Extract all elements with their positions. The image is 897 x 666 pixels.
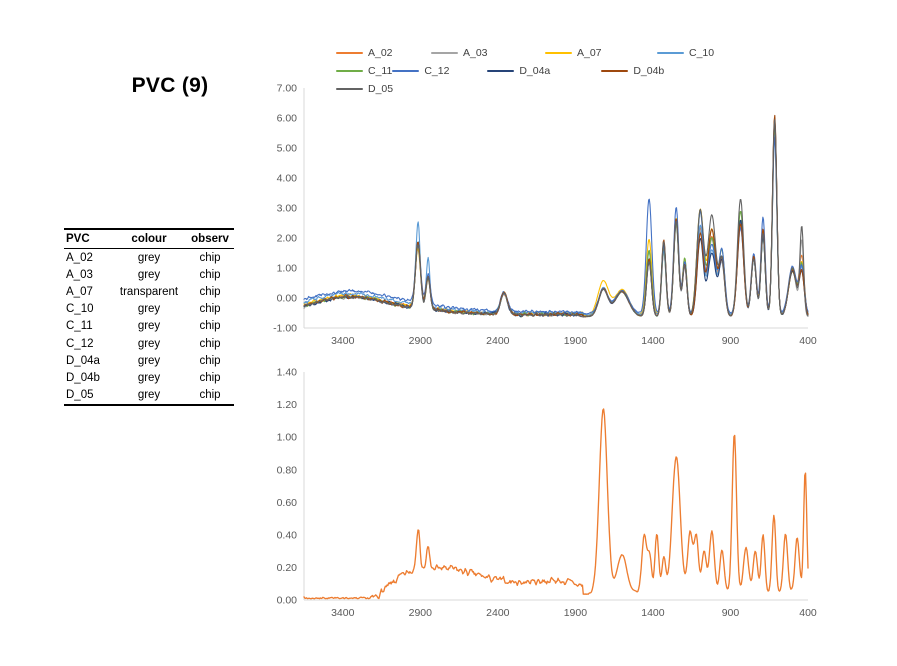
y-axis-tick-label: 4.00 (277, 173, 298, 185)
table-row: C_12greychip (64, 335, 234, 352)
x-axis-tick-label: 900 (722, 335, 740, 347)
series-line-d_04a (304, 121, 808, 317)
legend-item-a_03[interactable]: A_03 (431, 44, 545, 62)
table-row: D_04bgreychip (64, 369, 234, 386)
sample-colour-cell: grey (112, 387, 186, 405)
table-row: D_04agreychip (64, 352, 234, 369)
legend-swatch-icon (392, 70, 419, 73)
x-axis-tick-label: 2900 (409, 607, 433, 619)
sample-observ-cell: chip (186, 387, 234, 405)
sample-colour-cell: grey (112, 301, 186, 318)
y-axis-tick-label: 1.20 (277, 399, 298, 411)
y-axis-tick-label: 0.20 (277, 562, 298, 574)
legend-label: A_02 (368, 47, 393, 59)
sample-observ-cell: chip (186, 301, 234, 318)
sample-id-cell: C_10 (64, 301, 112, 318)
sample-observ-cell: chip (186, 352, 234, 369)
legend-swatch-icon (336, 52, 363, 55)
sample-colour-cell: grey (112, 318, 186, 335)
x-axis-tick-label: 1900 (564, 607, 588, 619)
table-row: C_10greychip (64, 301, 234, 318)
series-line-c_11 (304, 125, 808, 317)
series-line-d_04b (304, 115, 808, 316)
sample-id-cell: D_04b (64, 369, 112, 386)
table-row: A_07transparentchip (64, 283, 234, 300)
legend-swatch-icon (487, 70, 514, 73)
legend-item-a_07[interactable]: A_07 (545, 44, 657, 62)
x-axis-tick-label: 1400 (641, 335, 665, 347)
sample-colour-cell: transparent (112, 283, 186, 300)
x-axis-tick-label: 2900 (409, 335, 433, 347)
table-row: C_11greychip (64, 318, 234, 335)
sample-colour-cell: grey (112, 249, 186, 267)
table-row: A_02greychip (64, 249, 234, 267)
legend-swatch-icon (545, 52, 572, 55)
page-title: PVC (9) (70, 74, 270, 98)
sample-colour-cell: grey (112, 266, 186, 283)
x-axis-tick-label: 2400 (486, 335, 510, 347)
y-axis-tick-label: 6.00 (277, 113, 298, 125)
x-axis-tick-label: 400 (799, 607, 817, 619)
series-line-c_12 (304, 138, 808, 314)
sample-observ-cell: chip (186, 335, 234, 352)
y-axis-tick-label: 0.60 (277, 497, 298, 509)
sample-colour-cell: grey (112, 369, 186, 386)
legend-label: C_12 (424, 65, 449, 77)
sample-id-cell: C_11 (64, 318, 112, 335)
legend-item-a_02[interactable]: A_02 (336, 44, 431, 62)
legend-item-c_11[interactable]: C_11 (336, 62, 392, 80)
sample-observ-cell: chip (186, 249, 234, 267)
sample-observ-cell: chip (186, 369, 234, 386)
spectra-overlay-chart-svg: -1.000.001.002.003.004.005.006.007.00340… (258, 84, 814, 356)
sample-id-cell: C_12 (64, 335, 112, 352)
spectra-overlay-chart: -1.000.001.002.003.004.005.006.007.00340… (258, 84, 814, 356)
column-header-observ: observ (186, 229, 234, 249)
sample-id-cell: D_04a (64, 352, 112, 369)
legend-label: C_10 (689, 47, 714, 59)
legend-item-d_04a[interactable]: D_04a (487, 62, 601, 80)
y-axis-tick-label: 0.80 (277, 464, 298, 476)
legend-swatch-icon (336, 70, 363, 73)
legend-item-c_10[interactable]: C_10 (657, 44, 767, 62)
series-line-d_05 (304, 120, 808, 317)
series-line-a_03 (304, 127, 808, 317)
sample-colour-cell: grey (112, 352, 186, 369)
sample-table-container: PVC colour observ A_02greychipA_03greych… (64, 228, 234, 406)
x-axis-tick-label: 3400 (331, 335, 355, 347)
series-line-a_02 (304, 409, 808, 599)
legend-item-c_12[interactable]: C_12 (392, 62, 487, 80)
table-row: A_03greychip (64, 266, 234, 283)
table-header-row: PVC colour observ (64, 229, 234, 249)
sample-colour-cell: grey (112, 335, 186, 352)
reference-spectrum-chart-svg: 0.000.200.400.600.801.001.201.4034002900… (250, 368, 814, 630)
legend-label: A_03 (463, 47, 488, 59)
legend-swatch-icon (601, 70, 628, 73)
sample-id-cell: A_03 (64, 266, 112, 283)
legend-label: C_11 (368, 65, 392, 77)
legend-label: D_04a (519, 65, 550, 77)
legend-swatch-icon (431, 52, 458, 55)
x-axis-tick-label: 2400 (486, 607, 510, 619)
sample-id-cell: D_05 (64, 387, 112, 405)
sample-observ-cell: chip (186, 266, 234, 283)
y-axis-tick-label: 0.40 (277, 529, 298, 541)
y-axis-tick-label: 1.00 (277, 432, 298, 444)
legend-item-d_04b[interactable]: D_04b (601, 62, 713, 80)
series-line-a_02 (304, 119, 808, 317)
series-line-c_10 (304, 135, 808, 315)
y-axis-tick-label: 0.00 (277, 293, 298, 305)
y-axis-tick-label: -1.00 (273, 323, 297, 335)
x-axis-tick-label: 400 (799, 335, 817, 347)
y-axis-tick-label: 0.00 (277, 595, 298, 607)
sample-table-head: PVC colour observ (64, 229, 234, 249)
x-axis-tick-label: 3400 (331, 607, 355, 619)
series-line-a_07 (304, 132, 808, 316)
legend-label: A_07 (577, 47, 602, 59)
reference-spectrum-chart: 0.000.200.400.600.801.001.201.4034002900… (250, 368, 814, 630)
y-axis-tick-label: 7.00 (277, 83, 298, 95)
legend-swatch-icon (657, 52, 684, 55)
y-axis-tick-label: 1.00 (277, 263, 298, 275)
sample-observ-cell: chip (186, 283, 234, 300)
sample-id-cell: A_07 (64, 283, 112, 300)
y-axis-tick-label: 1.40 (277, 367, 298, 379)
sample-observ-cell: chip (186, 318, 234, 335)
legend-label: D_04b (633, 65, 664, 77)
table-row: D_05greychip (64, 387, 234, 405)
column-header-colour: colour (112, 229, 186, 249)
column-header-pvc: PVC (64, 229, 112, 249)
x-axis-tick-label: 900 (722, 607, 740, 619)
y-axis-tick-label: 5.00 (277, 143, 298, 155)
x-axis-tick-label: 1900 (564, 335, 588, 347)
x-axis-tick-label: 1400 (641, 607, 665, 619)
sample-id-cell: A_02 (64, 249, 112, 267)
y-axis-tick-label: 3.00 (277, 203, 298, 215)
y-axis-tick-label: 2.00 (277, 233, 298, 245)
sample-table-body: A_02greychipA_03greychipA_07transparentc… (64, 249, 234, 405)
sample-table: PVC colour observ A_02greychipA_03greych… (64, 228, 234, 406)
